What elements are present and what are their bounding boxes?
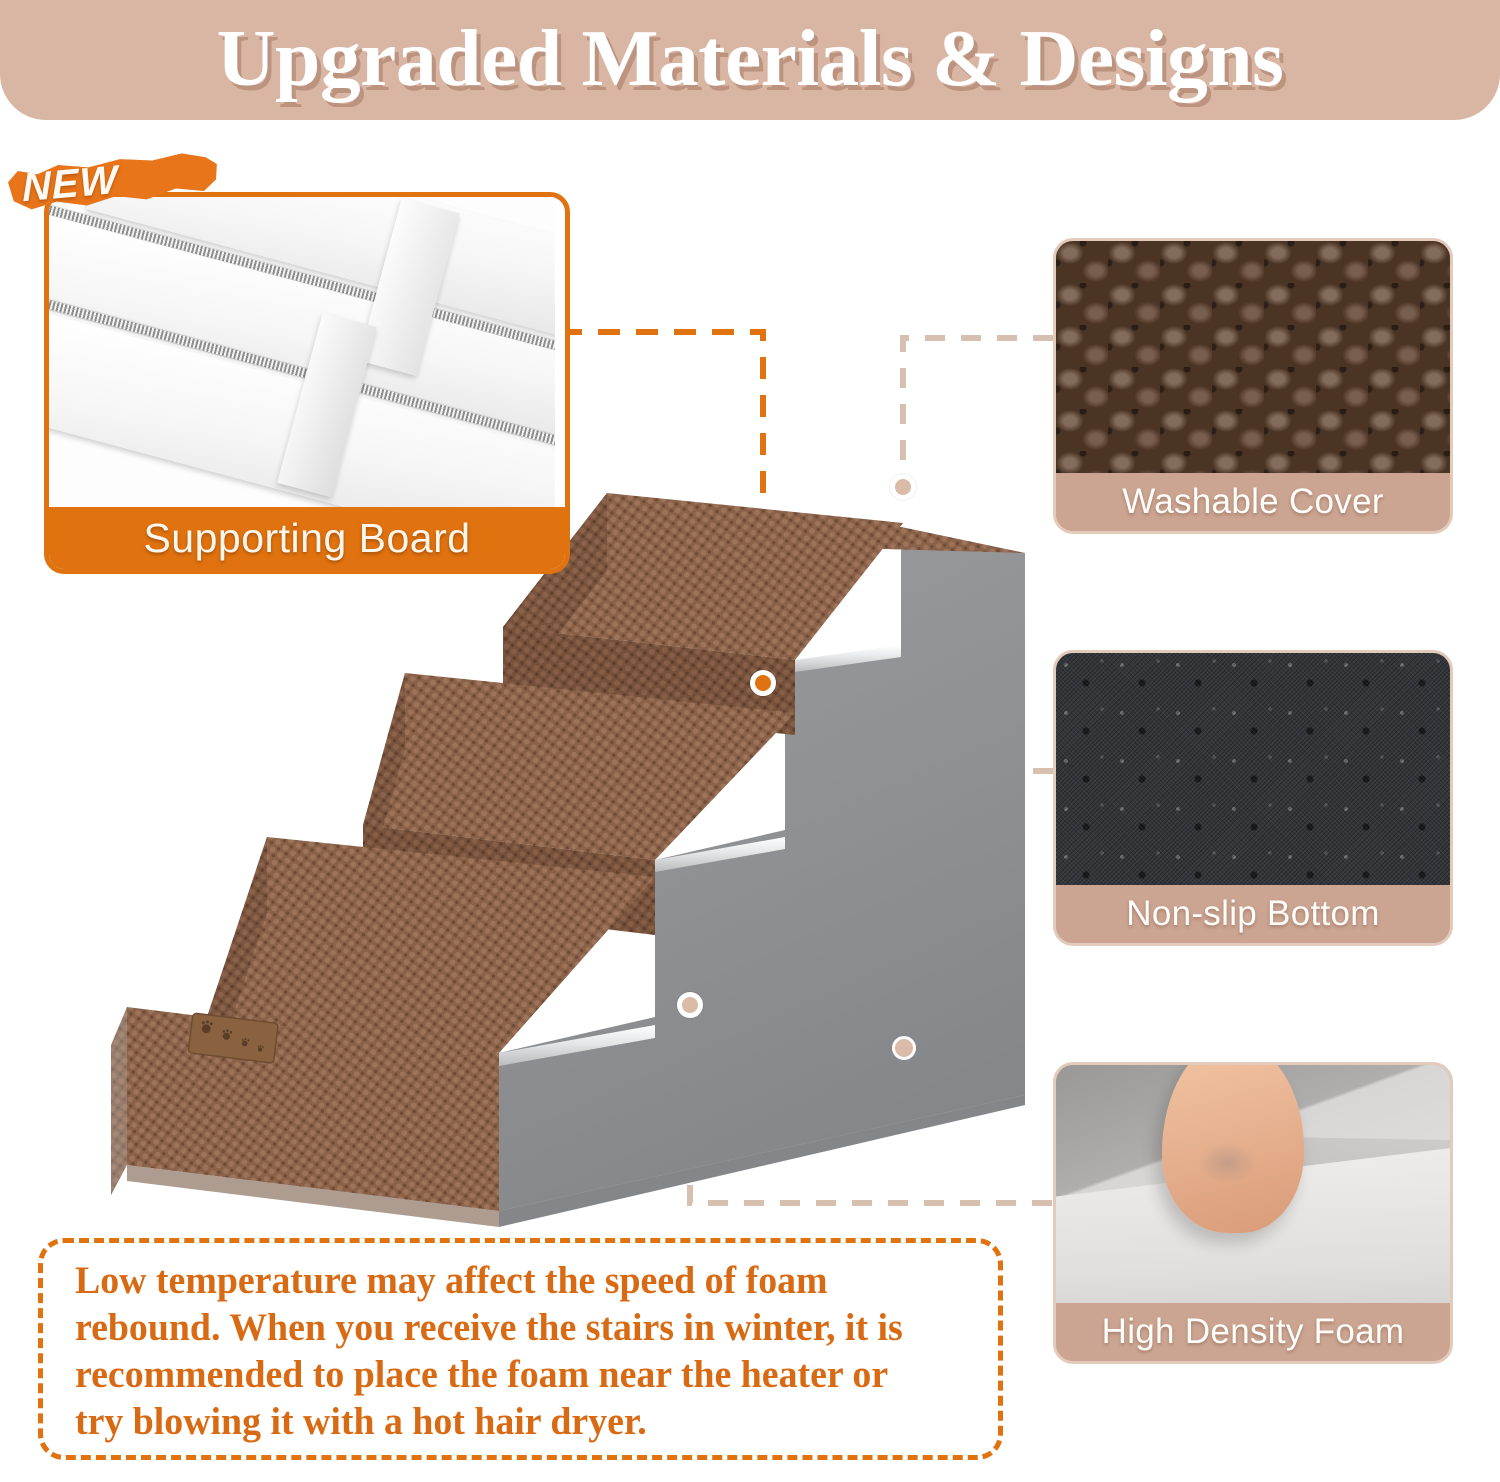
washable-cover-label-text: Washable Cover	[1122, 482, 1384, 522]
non-slip-bottom-photo	[1056, 653, 1450, 891]
washable-cover-label: Washable Cover	[1056, 473, 1450, 531]
non-slip-bottom-label: Non-slip Bottom	[1056, 885, 1450, 943]
supporting-board-panel: Supporting Board	[44, 192, 570, 574]
high-density-foam-label-text: High Density Foam	[1102, 1312, 1405, 1352]
washable-cover-photo	[1056, 241, 1450, 479]
callout-dot-high-density-foam	[677, 992, 703, 1018]
new-badge-label: NEW	[21, 158, 119, 211]
callout-dot-non-slip-bottom	[892, 1036, 916, 1060]
supporting-board-label-text: Supporting Board	[143, 515, 470, 562]
callout-dot-supporting-board	[750, 670, 776, 696]
supporting-board-label: Supporting Board	[49, 507, 565, 569]
page-title: Upgraded Materials & Designs	[0, 14, 1500, 105]
feature-panel-high-density-foam: High Density Foam	[1053, 1062, 1453, 1364]
supporting-board-photo	[49, 197, 555, 507]
hand-pressing-foam	[1162, 1062, 1304, 1233]
hand-shadow	[1198, 1142, 1258, 1184]
feature-panel-non-slip-bottom: Non-slip Bottom	[1053, 650, 1453, 946]
feature-panel-washable-cover: Washable Cover	[1053, 238, 1453, 534]
winter-care-note-text: Low temperature may affect the speed of …	[75, 1257, 941, 1445]
high-density-foam-photo	[1056, 1065, 1450, 1309]
non-slip-bottom-label-text: Non-slip Bottom	[1126, 894, 1379, 934]
callout-dot-washable-cover	[890, 474, 916, 500]
new-badge: NEW	[4, 152, 224, 214]
winter-care-note: Low temperature may affect the speed of …	[38, 1238, 1003, 1460]
high-density-foam-label: High Density Foam	[1056, 1303, 1450, 1361]
